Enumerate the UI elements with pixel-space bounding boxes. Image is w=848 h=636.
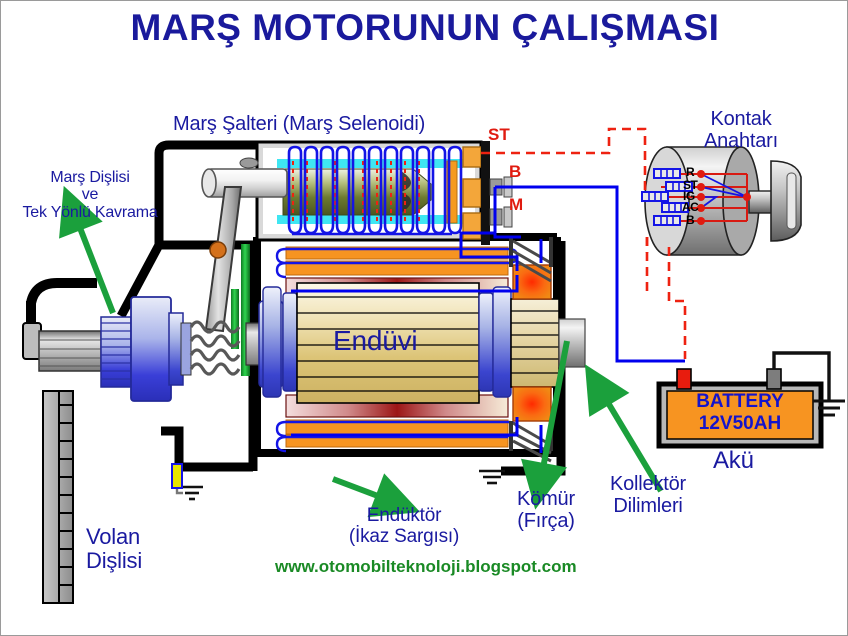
flywheel-ring-gear bbox=[43, 391, 73, 603]
label-armature: Endüvi bbox=[333, 326, 417, 356]
label-commutator: Kollektör Dilimleri bbox=[595, 474, 701, 517]
diagram-canvas: MARŞ MOTORUNUN ÇALIŞMASI bbox=[0, 0, 848, 636]
battery-text-line2: 12V50AH bbox=[667, 413, 813, 435]
label-pinion-clutch: Marş Dişlisi ve Tek Yönlü Kavrama bbox=[15, 169, 165, 221]
watermark-url: www.otomobilteknoloji.blogspot.com bbox=[275, 557, 577, 577]
terminal-label-b: B bbox=[509, 162, 521, 182]
battery-text-line1: BATTERY bbox=[667, 391, 813, 413]
label-flywheel-gear: Volan Dişlisi bbox=[86, 525, 142, 573]
ignition-switch[interactable] bbox=[641, 147, 801, 255]
arrow-pinion bbox=[75, 215, 113, 313]
label-solenoid: Marş Şalteri (Marş Selenoidi) bbox=[173, 114, 425, 136]
terminal-label-m: M bbox=[509, 195, 523, 215]
switch-terminal-ac: AC bbox=[682, 200, 698, 214]
commutator-and-brushes bbox=[509, 237, 585, 461]
label-ignition-switch: Kontak Anahtarı bbox=[681, 109, 801, 152]
label-brush: Kömür (Fırça) bbox=[501, 489, 591, 532]
solenoid-assembly bbox=[202, 142, 481, 240]
label-field-winding: Endüktör (İkaz Sargısı) bbox=[329, 506, 479, 547]
arrow-field-coil bbox=[333, 479, 391, 501]
solenoid-terminal-posts bbox=[463, 141, 512, 245]
switch-terminal-b: B bbox=[686, 213, 694, 227]
battery-negative-post bbox=[767, 369, 781, 389]
label-battery: Akü bbox=[713, 448, 754, 474]
switch-terminal-r: R bbox=[686, 165, 694, 179]
terminal-label-st: ST bbox=[488, 125, 510, 145]
ground-connector-block bbox=[171, 463, 183, 493]
brush-bottom bbox=[513, 387, 551, 421]
battery-positive-post bbox=[677, 369, 691, 389]
